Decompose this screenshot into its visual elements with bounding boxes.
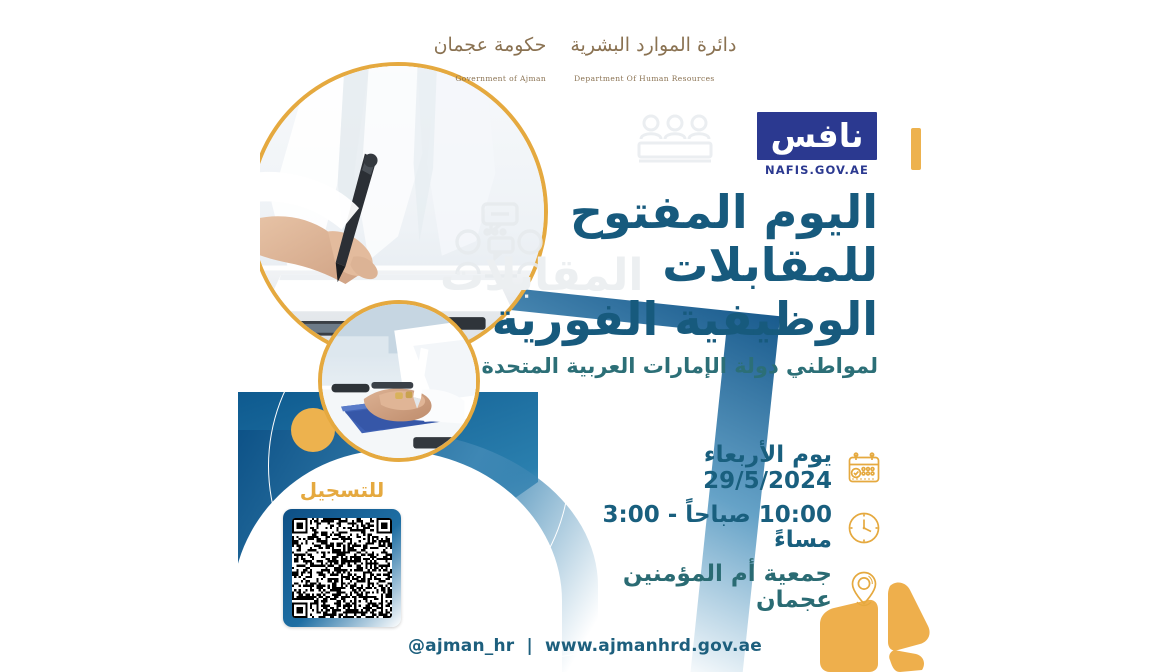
footer-separator: | — [526, 636, 532, 656]
qr-code-card[interactable] — [283, 509, 401, 627]
nafis-logo-box: نافس — [757, 112, 877, 160]
gov-logo-arabic: دائرة الموارد البشرية حكومة عجمان — [465, 28, 705, 62]
event-time-text: 10:00 صباحاً - 3:00 مساءً — [554, 503, 832, 555]
photo-left-crop — [238, 55, 260, 375]
interview-panel-icon — [636, 112, 714, 168]
ajman-government-logo: دائرة الموارد البشرية حكومة عجمان Govern… — [465, 28, 705, 90]
event-date: 29/5/2024 — [703, 469, 832, 495]
footer-contact: @ajman_hr | www.ajmanhrd.gov.ae — [0, 636, 1170, 656]
gov-logo-arabic-left: حكومة عجمان — [434, 34, 547, 56]
event-location-row: جمعية أم المؤمنين عجمان — [554, 562, 884, 614]
clock-icon — [844, 508, 884, 548]
registration-block[interactable]: للتسجيل — [283, 478, 401, 627]
event-date-row: يوم الأربعاء 29/5/2024 — [554, 443, 884, 495]
footer-website[interactable]: www.ajmanhrd.gov.ae — [545, 636, 762, 656]
poster-canvas: دائرة الموارد البشرية حكومة عجمان Govern… — [0, 0, 1170, 672]
footer-social-handle[interactable]: @ajman_hr — [408, 636, 514, 656]
poster-title: اليوم المفتوح للمقابلات الوظيفية الفورية… — [448, 186, 878, 378]
gov-logo-english-left: Government of Ajman — [455, 74, 546, 83]
event-venue: جمعية أم المؤمنين عجمان — [623, 561, 832, 613]
nafis-arabic-text: نافس — [770, 119, 863, 152]
gold-accent-bar — [911, 128, 921, 170]
title-line-1: اليوم المفتوح — [448, 186, 878, 239]
event-day: يوم الأربعاء — [704, 442, 832, 468]
nafis-url: NAFIS.GOV.AE — [757, 163, 877, 177]
title-line-2: للمقابلات — [448, 239, 878, 292]
registration-label: للتسجيل — [283, 478, 401, 502]
title-line-3: الوظيفية الفورية — [448, 293, 878, 346]
qr-code-canvas[interactable] — [292, 518, 392, 618]
gov-logo-english-right: Department Of Human Resources — [574, 74, 715, 83]
qr-code[interactable] — [292, 518, 392, 618]
calendar-icon — [844, 449, 884, 489]
location-pin-icon — [844, 568, 884, 608]
event-time-row: 10:00 صباحاً - 3:00 مساءً — [554, 503, 884, 555]
poster-subtitle: لمواطني دولة الإمارات العربية المتحدة — [448, 354, 878, 378]
event-details: يوم الأربعاء 29/5/2024 10:00 صباحاً - 3: — [554, 443, 884, 622]
nafis-logo[interactable]: نافس NAFIS.GOV.AE — [757, 112, 877, 177]
event-location-text: جمعية أم المؤمنين عجمان — [554, 562, 832, 614]
event-time: 10:00 صباحاً - 3:00 مساءً — [603, 502, 832, 554]
gov-logo-english: Government of Ajman Department Of Human … — [465, 65, 705, 91]
gov-logo-arabic-right: دائرة الموارد البشرية — [570, 34, 736, 56]
event-date-text: يوم الأربعاء 29/5/2024 — [703, 443, 832, 495]
